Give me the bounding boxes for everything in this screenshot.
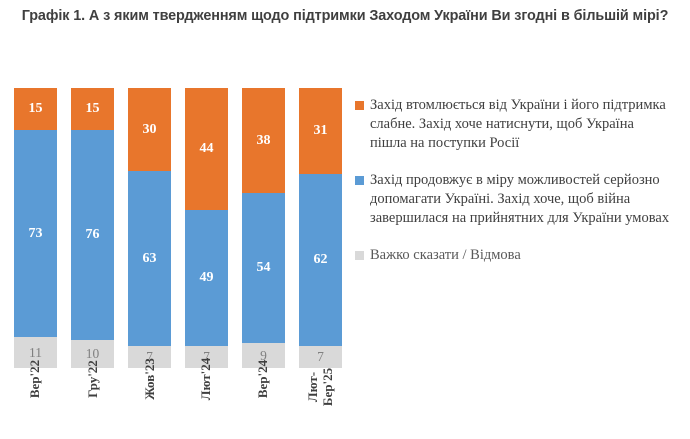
- category-label-text: Лют-Бер'25: [306, 368, 336, 406]
- category-label: Вер'24: [242, 372, 285, 438]
- category-label: Гру'22: [71, 372, 114, 438]
- bar-column: 157311: [14, 88, 57, 368]
- legend-item[interactable]: Важко сказати / Відмова: [355, 246, 685, 265]
- chart-plot-area: 15731115761030637444973854931627: [0, 88, 345, 368]
- bar-column: 30637: [128, 88, 171, 368]
- legend-item-label: Захід втомлюється від України і його під…: [370, 96, 670, 153]
- legend-item[interactable]: Захід продовжує в міру можливостей серйо…: [355, 171, 685, 228]
- legend-item-label: Важко сказати / Відмова: [370, 246, 521, 265]
- bar-column: 44497: [185, 88, 228, 368]
- bar-segment: 63: [128, 171, 171, 346]
- bar-segment: 15: [71, 88, 114, 130]
- legend-item[interactable]: Захід втомлюється від України і його під…: [355, 96, 685, 153]
- category-label-text: Вер'24: [256, 360, 270, 398]
- bar-column: 157610: [71, 88, 114, 368]
- bar-segment: 15: [14, 88, 57, 130]
- category-label: Лют-Бер'25: [299, 372, 342, 438]
- category-label-text: Лют'24: [199, 358, 213, 400]
- bar-segment: 7: [299, 346, 342, 368]
- category-label-text: Гру'22: [86, 360, 100, 398]
- bar-segment: 30: [128, 88, 171, 171]
- category-label-text: Жов'23: [143, 358, 157, 400]
- bar-segment: 49: [185, 210, 228, 346]
- page-title: Графік 1. А з яким твердженням щодо підт…: [14, 6, 676, 27]
- bar-column: 38549: [242, 88, 285, 368]
- chart-legend: Захід втомлюється від України і його під…: [355, 96, 685, 283]
- bar-segment: 38: [242, 88, 285, 193]
- bar-segment: 62: [299, 174, 342, 346]
- legend-swatch-icon: [355, 101, 364, 110]
- bar-segment: 73: [14, 130, 57, 337]
- legend-item-label: Захід продовжує в міру можливостей серйо…: [370, 171, 670, 228]
- category-label-text: Вер'22: [28, 360, 42, 398]
- category-label: Вер'22: [14, 372, 57, 438]
- legend-swatch-icon: [355, 251, 364, 260]
- bar-segment: 44: [185, 88, 228, 210]
- legend-swatch-icon: [355, 176, 364, 185]
- bar-column: 31627: [299, 88, 342, 368]
- bar-segment: 54: [242, 193, 285, 343]
- category-label: Жов'23: [128, 372, 171, 438]
- category-label: Лют'24: [185, 372, 228, 438]
- chart-category-axis: Вер'22Гру'22Жов'23Лют'24Вер'24Лют-Бер'25: [0, 368, 345, 439]
- bar-segment: 76: [71, 130, 114, 340]
- bar-segment: 31: [299, 88, 342, 174]
